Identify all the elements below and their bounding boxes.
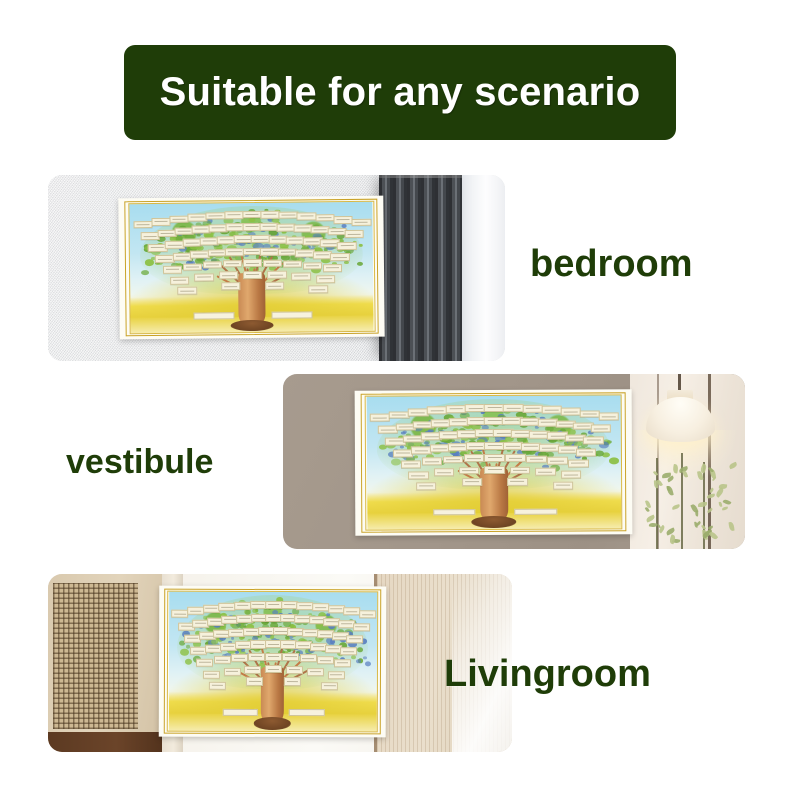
vestibule-scene-content [283, 374, 745, 549]
scene-photo-livingroom [48, 574, 512, 752]
cabinet-base [48, 732, 162, 752]
bedroom-scene-content [48, 175, 505, 361]
promo-image-root: Suitable for any scenario bedroom vestib… [0, 0, 800, 800]
scene-photo-vestibule [283, 374, 745, 549]
headline-banner: Suitable for any scenario [124, 45, 676, 140]
livingroom-scene-content [48, 574, 512, 752]
scene-photo-bedroom [48, 175, 505, 361]
headline-text: Suitable for any scenario [160, 70, 641, 115]
poster-border-outer [164, 589, 382, 734]
rattan-cabinet [48, 574, 162, 752]
plant-leaf [683, 470, 689, 477]
plant-leaf [667, 486, 670, 491]
plant-leaf [646, 515, 657, 523]
plant-leaf [695, 510, 699, 516]
potted-plant [634, 453, 745, 549]
plant-leaf [729, 461, 738, 468]
plant-leaf [707, 525, 713, 529]
plant-leaf [714, 488, 724, 499]
scene-label-vestibule: vestibule [66, 443, 213, 482]
family-tree-poster [159, 586, 387, 738]
plant-leaf [707, 494, 716, 499]
plant-leaf [654, 480, 659, 488]
scene-label-livingroom: Livingroom [444, 653, 651, 696]
plant-leaf [728, 521, 734, 531]
plant-leaf [672, 464, 679, 474]
plant-leaf [698, 502, 707, 507]
plant-leaf [722, 498, 731, 505]
poster-border-outer [360, 392, 626, 532]
plant-leaf [722, 506, 728, 510]
plant-leaf [709, 531, 718, 541]
plant-leaf [718, 483, 727, 488]
plant-leaf [709, 487, 714, 492]
bedroom-window-light [462, 175, 505, 361]
plant-leaf [719, 502, 723, 507]
poster-border-outer [124, 199, 379, 337]
scene-label-bedroom: bedroom [530, 243, 693, 286]
rattan-mesh [53, 583, 138, 729]
curtain-rod [379, 175, 461, 178]
plant-leaf [671, 504, 680, 510]
plant-leaf [707, 507, 714, 513]
plant-leaf [694, 521, 698, 527]
bedroom-curtain [379, 175, 461, 361]
family-tree-poster [354, 389, 632, 536]
family-tree-poster [118, 196, 385, 340]
